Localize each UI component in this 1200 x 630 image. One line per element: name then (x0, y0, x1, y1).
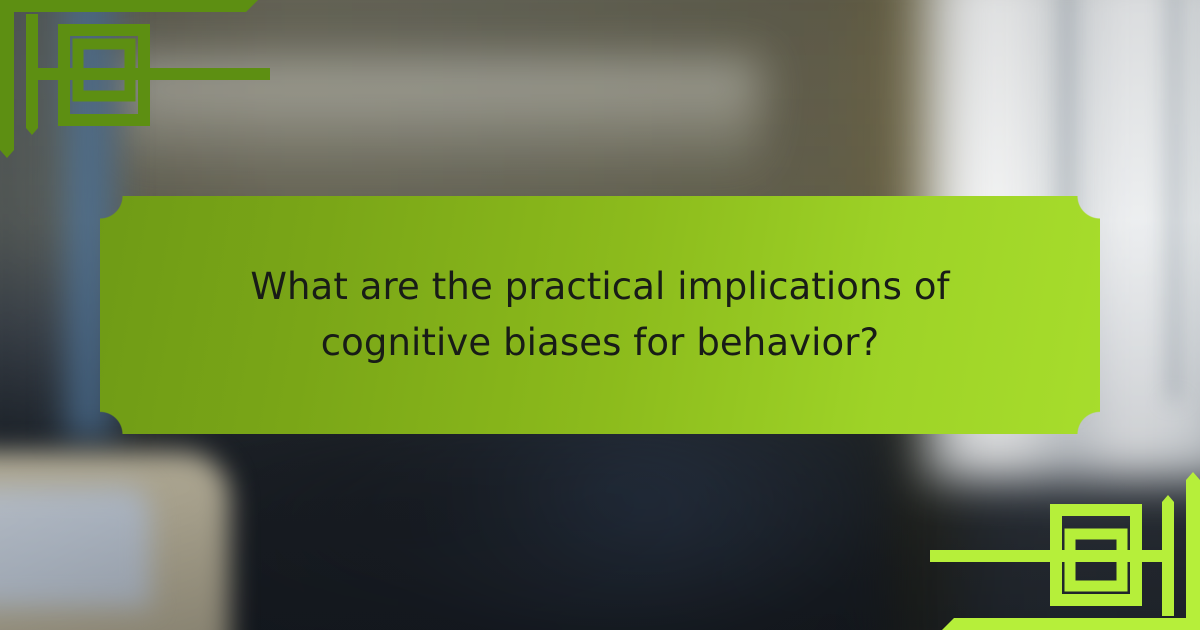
quote-card: What are the practical implications of c… (100, 196, 1100, 434)
quote-card-banner: What are the practical implications of c… (0, 0, 1200, 630)
question-text: What are the practical implications of c… (220, 259, 980, 371)
